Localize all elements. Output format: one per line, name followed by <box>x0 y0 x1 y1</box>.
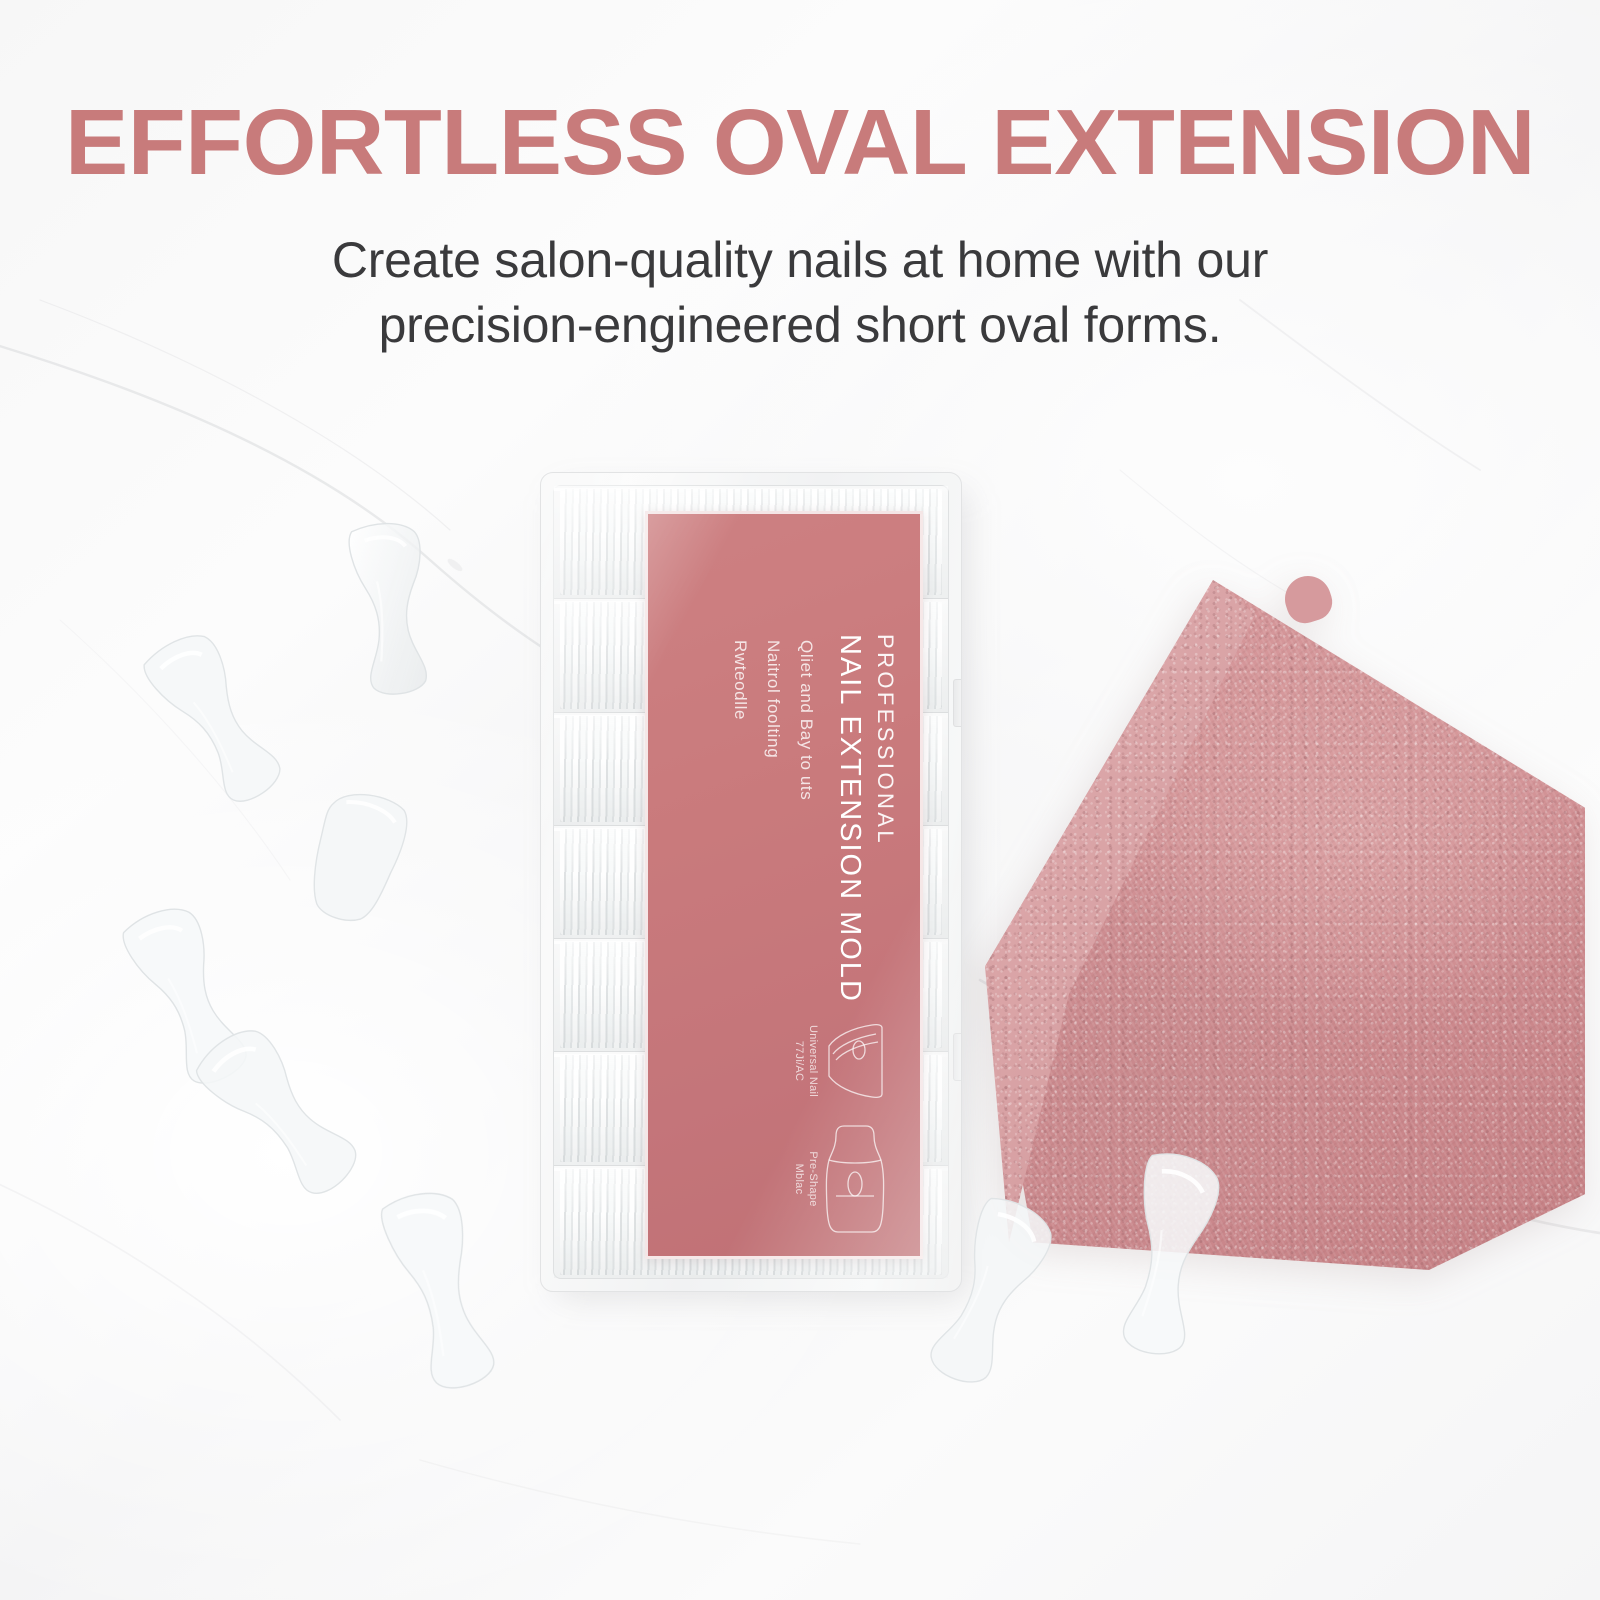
subtitle-line-2: precision-engineered short oval forms. <box>235 293 1365 358</box>
label-feature-item: Qliet and Bay to uts <box>796 640 816 800</box>
pre-shape-mold-icon-caption: Pre-Shape Mblac <box>792 1151 820 1206</box>
subtitle-line-1: Create salon-quality nails at home with … <box>235 228 1365 293</box>
towel-body-group <box>955 540 1600 1300</box>
label-brand-line: PROFESSIONAL <box>872 634 898 1003</box>
page-subtitle: Create salon-quality nails at home with … <box>235 228 1365 358</box>
universal-nail-icon-group: Universal Nail 77Ji/AC <box>792 1018 887 1104</box>
case-latch[interactable] <box>953 679 962 727</box>
label-product-line: NAIL EXTENSION MOLD <box>833 634 866 1003</box>
label-feature-item: Rwteodlle <box>730 640 750 800</box>
label-feature-item: Naitrol foolting <box>763 640 783 800</box>
page-title: EFFORTLESS OVAL EXTENSION <box>0 96 1600 189</box>
case-latch[interactable] <box>953 1033 962 1081</box>
clear-storage-case: PROFESSIONAL NAIL EXTENSION MOLD Qliet a… <box>540 472 962 1292</box>
pre-shape-mold-icon-group: Pre-Shape Mblac <box>792 1120 887 1238</box>
label-rotated-text-group: PROFESSIONAL NAIL EXTENSION MOLD Qliet a… <box>648 514 920 1256</box>
towel-corner-peak <box>1279 570 1337 628</box>
universal-nail-icon-caption: Universal Nail 77Ji/AC <box>792 1025 820 1097</box>
label-icon-row: Universal Nail 77Ji/AC <box>792 1018 887 1238</box>
label-feature-list: Qliet and Bay to uts Naitrol foolting Rw… <box>730 640 816 800</box>
label-title-block: PROFESSIONAL NAIL EXTENSION MOLD <box>833 634 898 1003</box>
pink-microfiber-towel <box>955 540 1600 1300</box>
loose-nail-form <box>323 514 461 706</box>
product-label-band: PROFESSIONAL NAIL EXTENSION MOLD Qliet a… <box>645 511 923 1259</box>
product-marketing-image: EFFORTLESS OVAL EXTENSION Create salon-q… <box>0 0 1600 1600</box>
product-case: PROFESSIONAL NAIL EXTENSION MOLD Qliet a… <box>540 472 970 1302</box>
pre-shape-mold-icon <box>824 1120 886 1238</box>
universal-nail-icon <box>824 1018 886 1104</box>
